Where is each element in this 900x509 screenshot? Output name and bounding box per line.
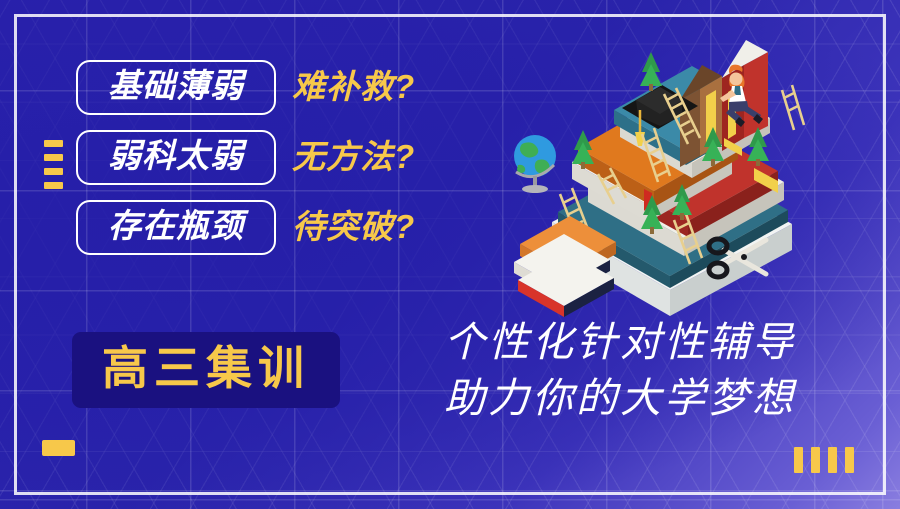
- problem-label: 弱科太弱: [108, 139, 244, 174]
- pine-tree: [572, 130, 594, 169]
- dash-mark: [44, 168, 63, 175]
- bar-mark: [845, 447, 854, 473]
- problem-row: 存在瓶颈 待突破?: [76, 200, 415, 255]
- bar-mark: [828, 447, 837, 473]
- isometric-book-stack-illustration: [492, 34, 882, 334]
- problem-row: 弱科太弱 无方法?: [76, 130, 415, 185]
- headline-badge: 高三集训: [72, 332, 340, 408]
- pine-tree: [640, 52, 662, 91]
- ladder: [782, 85, 804, 130]
- promo-banner: 基础薄弱 难补救? 弱科太弱 无方法? 存在瓶颈 待突破? 高三集训 个性化针对…: [0, 0, 900, 509]
- bottom-left-dash-decoration: [42, 440, 75, 456]
- problem-question: 难补救?: [292, 70, 415, 105]
- problem-label: 基础薄弱: [108, 69, 244, 104]
- bar-mark: [811, 447, 820, 473]
- problem-label: 存在瓶颈: [108, 209, 244, 244]
- problem-question: 待突破?: [292, 210, 415, 245]
- slogan-line-2: 助力你的大学梦想: [444, 372, 796, 424]
- headline-badge-text: 高三集训: [102, 344, 310, 392]
- problem-pill: 存在瓶颈: [76, 200, 276, 255]
- bar-mark: [794, 447, 803, 473]
- globe-icon: [514, 135, 556, 193]
- problem-question: 无方法?: [292, 140, 415, 175]
- bottom-right-bars-decoration: [794, 447, 854, 473]
- dash-mark: [44, 140, 63, 147]
- dash-mark: [44, 154, 63, 161]
- problem-row: 基础薄弱 难补救?: [76, 60, 415, 115]
- problem-pill: 弱科太弱: [76, 130, 276, 185]
- problem-pill: 基础薄弱: [76, 60, 276, 115]
- dash-mark: [44, 182, 63, 189]
- left-dash-decoration: [44, 140, 63, 189]
- problem-list: 基础薄弱 难补救? 弱科太弱 无方法? 存在瓶颈 待突破?: [76, 60, 415, 255]
